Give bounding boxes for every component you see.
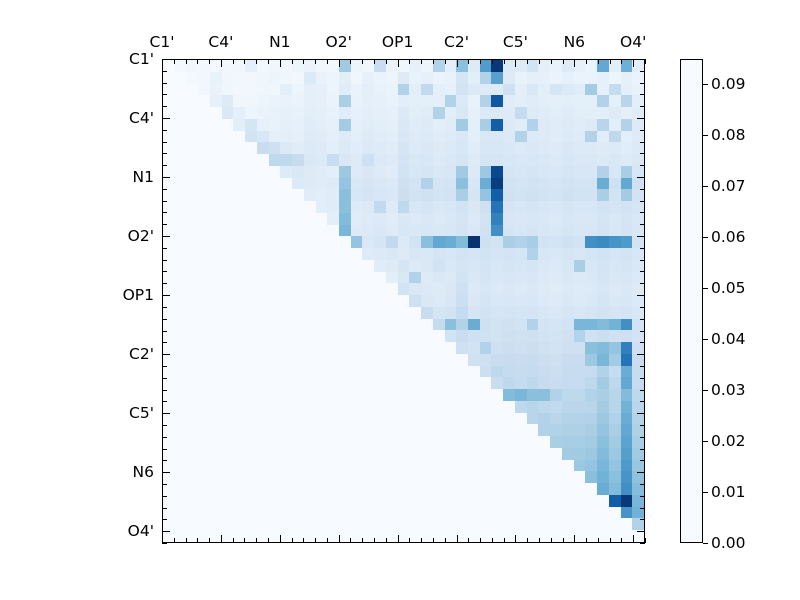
heatmap-cell [257, 389, 269, 401]
heatmap-cell [503, 178, 515, 190]
heatmap-cell [527, 342, 539, 354]
heatmap-cell [257, 131, 269, 143]
heatmap-cell [515, 84, 527, 96]
y-tick-minor [162, 165, 167, 166]
heatmap-cell [292, 272, 304, 284]
heatmap-cell [198, 225, 210, 237]
heatmap-cell [327, 389, 339, 401]
heatmap-cell [445, 307, 457, 319]
heatmap-cell [210, 248, 222, 260]
heatmap-cell [210, 107, 222, 119]
heatmap-cell [468, 342, 480, 354]
heatmap-cell [515, 119, 527, 131]
heatmap-cell [175, 166, 187, 178]
heatmap-cell [362, 142, 374, 154]
heatmap-cell [186, 72, 198, 84]
heatmap-cell [398, 518, 410, 530]
heatmap-cell [210, 189, 222, 201]
heatmap-cell [433, 225, 445, 237]
heatmap-cell [585, 436, 597, 448]
heatmap-cell [527, 213, 539, 225]
heatmap-cell [210, 518, 222, 530]
heatmap-cell [280, 142, 292, 154]
heatmap-cell [269, 260, 281, 272]
heatmap-cell [562, 342, 574, 354]
colorbar-tick-label: 0.03 [711, 381, 746, 399]
heatmap-cell [433, 413, 445, 425]
heatmap-cell [562, 307, 574, 319]
heatmap-cell [480, 178, 492, 190]
heatmap-cell [585, 154, 597, 166]
heatmap-cell [257, 166, 269, 178]
y-tick-minor [162, 437, 167, 438]
heatmap-cell [609, 142, 621, 154]
heatmap-cell [186, 142, 198, 154]
heatmap-cell [175, 189, 187, 201]
heatmap-cell [621, 307, 633, 319]
heatmap-cell [433, 483, 445, 495]
heatmap-cell [292, 377, 304, 389]
heatmap-cell [621, 272, 633, 284]
heatmap-cell [480, 272, 492, 284]
heatmap-cell [550, 225, 562, 237]
heatmap-cell [527, 471, 539, 483]
heatmap-cell [609, 131, 621, 143]
heatmap-cell [374, 377, 386, 389]
heatmap-cell [538, 389, 550, 401]
heatmap-cell [245, 84, 257, 96]
heatmap-cell [175, 95, 187, 107]
heatmap-cell [175, 507, 187, 519]
heatmap-cell [210, 154, 222, 166]
heatmap-cell [609, 401, 621, 413]
heatmap-cell [503, 495, 515, 507]
heatmap-cell [280, 471, 292, 483]
heatmap-cell [198, 483, 210, 495]
heatmap-cell [316, 189, 328, 201]
heatmap-cell [210, 166, 222, 178]
heatmap-cell [374, 413, 386, 425]
heatmap-cell [468, 483, 480, 495]
x-tick-minor [445, 538, 446, 543]
heatmap-cell [222, 84, 234, 96]
heatmap-cell [585, 471, 597, 483]
heatmap-cell [445, 236, 457, 248]
heatmap-cell [445, 295, 457, 307]
x-tick-major [280, 59, 281, 67]
heatmap-cell [515, 389, 527, 401]
heatmap-cell [316, 295, 328, 307]
y-tick-minor [640, 201, 645, 202]
heatmap-cell [480, 319, 492, 331]
heatmap-cell [585, 377, 597, 389]
heatmap-cell [233, 283, 245, 295]
heatmap-cell [445, 424, 457, 436]
heatmap-cell [210, 84, 222, 96]
heatmap-cell [597, 342, 609, 354]
heatmap-cell [386, 283, 398, 295]
y-tick-major [637, 531, 645, 532]
heatmap-cell [445, 366, 457, 378]
heatmap-cell [327, 307, 339, 319]
heatmap-cell [362, 319, 374, 331]
heatmap-cell [527, 119, 539, 131]
y-tick-minor [162, 390, 167, 391]
heatmap-cell [609, 72, 621, 84]
heatmap-cell [362, 72, 374, 84]
heatmap-cell [609, 225, 621, 237]
heatmap-cell [550, 518, 562, 530]
heatmap-cell [210, 213, 222, 225]
heatmap-cell [304, 507, 316, 519]
heatmap-cell [433, 283, 445, 295]
heatmap-cell [398, 213, 410, 225]
heatmap-cell [433, 471, 445, 483]
y-tick-minor [162, 449, 167, 450]
heatmap-cell [597, 107, 609, 119]
heatmap-cell [574, 401, 586, 413]
heatmap-cell [269, 283, 281, 295]
heatmap-cell [280, 213, 292, 225]
heatmap-cell [433, 260, 445, 272]
heatmap-cell [597, 119, 609, 131]
heatmap-cell [433, 236, 445, 248]
heatmap-cell [550, 330, 562, 342]
heatmap-cell [362, 330, 374, 342]
heatmap-cell [374, 471, 386, 483]
heatmap-cell [445, 95, 457, 107]
y-axis-ticks-left [162, 59, 170, 543]
heatmap-cell [433, 95, 445, 107]
heatmap-cell [421, 72, 433, 84]
heatmap-cell [456, 354, 468, 366]
heatmap-cell [585, 507, 597, 519]
x-tick-minor [292, 59, 293, 64]
heatmap-cell [257, 518, 269, 530]
heatmap-cell [269, 72, 281, 84]
heatmap-cell [269, 107, 281, 119]
heatmap-cell [280, 495, 292, 507]
heatmap-cell [503, 272, 515, 284]
heatmap-cell [527, 154, 539, 166]
heatmap-cell [527, 72, 539, 84]
heatmap-cell [198, 377, 210, 389]
heatmap-cell [480, 201, 492, 213]
heatmap-cell [538, 495, 550, 507]
heatmap-cell [445, 107, 457, 119]
heatmap-cell [503, 389, 515, 401]
heatmap-cell [515, 471, 527, 483]
heatmap-cell [339, 507, 351, 519]
heatmap-cell [351, 366, 363, 378]
heatmap-cell [445, 260, 457, 272]
colorbar-tick [703, 441, 708, 442]
heatmap-cell [538, 330, 550, 342]
heatmap-cell [222, 201, 234, 213]
heatmap-cell [538, 436, 550, 448]
heatmap-cell [421, 95, 433, 107]
heatmap-cell [409, 330, 421, 342]
heatmap-cell [316, 424, 328, 436]
heatmap-cell [398, 354, 410, 366]
heatmap-cell [468, 507, 480, 519]
heatmap-cell [585, 483, 597, 495]
heatmap-cell [609, 119, 621, 131]
heatmap-cell [409, 319, 421, 331]
heatmap-cell [503, 166, 515, 178]
heatmap-cell [386, 460, 398, 472]
heatmap-cell [515, 507, 527, 519]
heatmap-cell [609, 201, 621, 213]
heatmap-cell [222, 495, 234, 507]
heatmap-cell [562, 389, 574, 401]
heatmap-cell [409, 307, 421, 319]
heatmap-cell [292, 260, 304, 272]
heatmap-cell [468, 272, 480, 284]
heatmap-cell [339, 225, 351, 237]
heatmap-cell [351, 401, 363, 413]
heatmap-cell [292, 319, 304, 331]
y-tick-minor [162, 201, 167, 202]
heatmap-cell [621, 283, 633, 295]
heatmap-cell [480, 154, 492, 166]
y-tick-major [162, 236, 170, 237]
heatmap-cell [515, 272, 527, 284]
x-tick-minor [598, 538, 599, 543]
x-tick-minor [586, 538, 587, 543]
heatmap-cell [351, 495, 363, 507]
x-tick-label: C5' [503, 33, 528, 51]
heatmap-cell [609, 260, 621, 272]
colorbar-tick [703, 543, 708, 544]
heatmap-cell [210, 95, 222, 107]
heatmap-cell [374, 401, 386, 413]
heatmap-cell [597, 189, 609, 201]
heatmap-cell [538, 142, 550, 154]
heatmap-cell [245, 342, 257, 354]
heatmap-cell [538, 248, 550, 260]
heatmap-cell [233, 225, 245, 237]
heatmap-cell [280, 107, 292, 119]
heatmap-cell [585, 131, 597, 143]
heatmap-cell [292, 225, 304, 237]
heatmap-cell [585, 272, 597, 284]
y-tick-minor [640, 543, 645, 544]
heatmap-cell [550, 236, 562, 248]
heatmap-cell [327, 248, 339, 260]
heatmap-cell [222, 142, 234, 154]
colorbar-tick-label: 0.07 [711, 177, 746, 195]
y-tick-minor [162, 519, 167, 520]
heatmap-cell [480, 460, 492, 472]
heatmap-cell [362, 107, 374, 119]
heatmap-cell [280, 119, 292, 131]
heatmap-cell [562, 330, 574, 342]
heatmap-cell [175, 72, 187, 84]
heatmap-cell [515, 248, 527, 260]
heatmap-cell [445, 189, 457, 201]
heatmap-cell [409, 236, 421, 248]
x-tick-minor [174, 538, 175, 543]
heatmap-cell [491, 225, 503, 237]
heatmap-cell [386, 213, 398, 225]
heatmap-cell [222, 189, 234, 201]
heatmap-cell [421, 283, 433, 295]
heatmap-cell [574, 119, 586, 131]
heatmap-cell [456, 448, 468, 460]
heatmap-cell [574, 330, 586, 342]
heatmap-cell [503, 248, 515, 260]
heatmap-cell [480, 377, 492, 389]
heatmap-cell [210, 401, 222, 413]
heatmap-cell [456, 436, 468, 448]
heatmap-cell [292, 413, 304, 425]
x-tick-minor [327, 538, 328, 543]
heatmap-cell [433, 342, 445, 354]
heatmap-cell [222, 424, 234, 436]
heatmap-cell [186, 295, 198, 307]
heatmap-cell [574, 413, 586, 425]
heatmap-cell [327, 495, 339, 507]
heatmap-cell [574, 389, 586, 401]
heatmap-cell [198, 295, 210, 307]
heatmap-cell [280, 72, 292, 84]
heatmap-cell [480, 518, 492, 530]
heatmap-cell [503, 213, 515, 225]
heatmap-cell [351, 166, 363, 178]
heatmap-cell [304, 354, 316, 366]
heatmap-cell [186, 507, 198, 519]
heatmap-cell [386, 471, 398, 483]
heatmap-cell [316, 389, 328, 401]
heatmap-cell [351, 107, 363, 119]
heatmap-cell [456, 460, 468, 472]
heatmap-cell [210, 119, 222, 131]
heatmap-cell [292, 213, 304, 225]
heatmap-cell [175, 413, 187, 425]
heatmap-cell [562, 84, 574, 96]
heatmap-cell [327, 342, 339, 354]
heatmap-cell [433, 178, 445, 190]
heatmap-cell [445, 142, 457, 154]
heatmap-cell [304, 213, 316, 225]
heatmap-cell [468, 413, 480, 425]
heatmap-cell [562, 436, 574, 448]
heatmap-cell [527, 354, 539, 366]
heatmap-cell [222, 166, 234, 178]
heatmap-cell [327, 283, 339, 295]
heatmap-cell [433, 319, 445, 331]
heatmap-cell [585, 178, 597, 190]
heatmap-cell [597, 154, 609, 166]
heatmap-cell [269, 424, 281, 436]
heatmap-cell [538, 507, 550, 519]
heatmap-cell [316, 154, 328, 166]
heatmap-cell [445, 436, 457, 448]
heatmap-cell [527, 283, 539, 295]
heatmap-cell [316, 201, 328, 213]
heatmap-cell [515, 213, 527, 225]
heatmap-cell [269, 295, 281, 307]
heatmap-cell [562, 95, 574, 107]
heatmap-cell [269, 189, 281, 201]
heatmap-cell [222, 225, 234, 237]
heatmap-cell [339, 189, 351, 201]
heatmap-cell [597, 495, 609, 507]
heatmap-cell [503, 142, 515, 154]
heatmap-cell [257, 424, 269, 436]
heatmap-cell [257, 319, 269, 331]
heatmap-cell [210, 448, 222, 460]
x-tick-minor [209, 538, 210, 543]
heatmap-cell [257, 178, 269, 190]
heatmap-cell [386, 507, 398, 519]
heatmap-cell [421, 178, 433, 190]
heatmap-cell [433, 354, 445, 366]
heatmap-cell [175, 471, 187, 483]
heatmap-cell [316, 107, 328, 119]
heatmap-cell [280, 272, 292, 284]
heatmap-cell [597, 283, 609, 295]
heatmap-cell [257, 189, 269, 201]
heatmap-cell [527, 413, 539, 425]
heatmap-cell [421, 413, 433, 425]
heatmap-cell [386, 448, 398, 460]
heatmap-cell [210, 413, 222, 425]
heatmap-cell [327, 107, 339, 119]
heatmap-cell [198, 518, 210, 530]
heatmap-cell [421, 366, 433, 378]
heatmap-cell [468, 377, 480, 389]
heatmap-cell [585, 283, 597, 295]
heatmap-cell [421, 107, 433, 119]
heatmap-cell [409, 213, 421, 225]
heatmap-cell [327, 319, 339, 331]
heatmap-cell [515, 518, 527, 530]
heatmap-cell [210, 142, 222, 154]
heatmap-cell [574, 460, 586, 472]
heatmap-cell [269, 236, 281, 248]
heatmap-cell [409, 448, 421, 460]
colorbar-tick [703, 492, 708, 493]
heatmap-cell [491, 389, 503, 401]
heatmap-cell [574, 377, 586, 389]
heatmap-cell [491, 95, 503, 107]
heatmap-cell [374, 448, 386, 460]
heatmap-cell [585, 330, 597, 342]
x-tick-minor [586, 59, 587, 64]
heatmap-cell [609, 307, 621, 319]
heatmap-cell [621, 119, 633, 131]
heatmap-cell [538, 471, 550, 483]
y-tick-minor [640, 212, 645, 213]
heatmap-cell [316, 483, 328, 495]
heatmap-cell [351, 236, 363, 248]
heatmap-cell [339, 131, 351, 143]
heatmap-cell [421, 213, 433, 225]
heatmap-cell [257, 154, 269, 166]
y-tick-minor [162, 153, 167, 154]
heatmap-cell [550, 131, 562, 143]
heatmap-cell [398, 236, 410, 248]
heatmap-cell [515, 72, 527, 84]
heatmap-cell [562, 424, 574, 436]
heatmap-cell [550, 424, 562, 436]
heatmap-cell [386, 131, 398, 143]
y-tick-minor [162, 342, 167, 343]
heatmap-cell [304, 95, 316, 107]
heatmap-cell [468, 119, 480, 131]
